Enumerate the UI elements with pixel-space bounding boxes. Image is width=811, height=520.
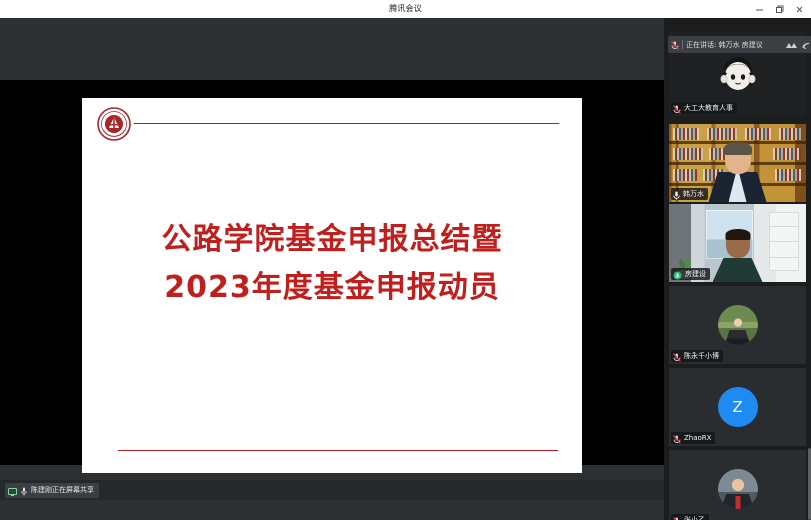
participant-name-chip-5: 张小乙 <box>671 514 709 520</box>
photo-avatar-2 <box>718 469 758 509</box>
slide-title: 公路学院基金申报总结暨 2023年度基金申报动员 <box>82 216 582 312</box>
participant-name-1: 韩万水 <box>683 189 704 199</box>
active-speaker-text: 正在讲话: 韩万水 房建议 <box>686 40 763 50</box>
microphone-icon <box>673 185 680 203</box>
university-emblem-icon <box>96 106 132 142</box>
shared-slide: 公路学院基金申报总结暨 2023年度基金申报动员 <box>82 98 582 473</box>
window-title: 腾讯会议 <box>389 0 422 18</box>
microphone-icon <box>673 265 682 283</box>
mic-muted-icon <box>673 511 681 520</box>
participant-name-0: 大工大教育人事 <box>684 103 733 113</box>
tencent-meeting-window: 腾讯会议 <box>0 0 811 520</box>
letter-avatar: Z <box>718 387 758 427</box>
participant-name-2: 房建设 <box>685 269 706 279</box>
participant-video-person <box>708 144 768 202</box>
participant-tile-5[interactable]: 张小乙 <box>669 450 806 520</box>
participant-name-5: 张小乙 <box>684 515 705 520</box>
slide-title-line-2: 2023年度基金申报动员 <box>82 264 582 312</box>
window-controls <box>749 0 809 18</box>
shelf-background <box>769 212 799 271</box>
participant-name-chip-4: ZhaoRX <box>671 432 715 444</box>
participant-tile-4[interactable]: Z ZhaoRX <box>669 368 806 446</box>
mic-muted-icon <box>671 35 679 54</box>
slide-bottom-rule <box>118 450 558 451</box>
participant-tile-1[interactable]: 韩万水 <box>669 124 806 202</box>
photo-avatar <box>718 305 758 345</box>
participant-name-3: 陈永千小博 <box>684 351 719 361</box>
share-status-bar: 陈建刚正在屏幕共享 <box>0 480 664 500</box>
maximize-button[interactable] <box>769 0 789 18</box>
participant-name-chip-3: 陈永千小博 <box>671 350 723 362</box>
participant-tile-3[interactable]: 陈永千小博 <box>669 286 806 364</box>
participant-name-chip-1: 韩万水 <box>671 188 708 200</box>
slide-title-line-1: 公路学院基金申报总结暨 <box>162 222 503 257</box>
participant-name-chip-2: 房建设 <box>671 268 710 280</box>
participant-name-chip-0: 大工大教育人事 <box>671 102 737 114</box>
shared-screen-stage[interactable]: 公路学院基金申报总结暨 2023年度基金申报动员 陈建刚正在屏幕共享 <box>0 18 664 500</box>
microphone-icon <box>21 481 27 500</box>
participant-video-person <box>712 230 764 282</box>
chevron-collapse-icon[interactable] <box>785 35 798 54</box>
minimize-button[interactable] <box>749 0 769 18</box>
participant-rail[interactable]: 大工大教育人事 正在讲话: 韩万水 房建议 <box>664 18 811 520</box>
active-speaker-banner[interactable]: 正在讲话: 韩万水 房建议 <box>668 36 811 53</box>
banner-divider <box>682 40 683 49</box>
arrow-back-icon[interactable] <box>801 35 810 54</box>
mic-muted-icon <box>673 347 681 365</box>
close-button[interactable] <box>789 0 809 18</box>
title-bar: 腾讯会议 <box>0 0 811 18</box>
mic-muted-icon <box>673 99 681 117</box>
illustration-avatar <box>716 52 760 96</box>
slide-top-rule <box>134 123 559 124</box>
participant-tile-2[interactable]: 房建设 <box>669 204 806 282</box>
share-status-text: 陈建刚正在屏幕共享 <box>31 485 94 496</box>
share-status-chip[interactable]: 陈建刚正在屏幕共享 <box>5 483 99 498</box>
mic-muted-icon <box>673 429 681 447</box>
participant-name-4: ZhaoRX <box>684 433 711 443</box>
screen-share-icon <box>8 481 17 500</box>
